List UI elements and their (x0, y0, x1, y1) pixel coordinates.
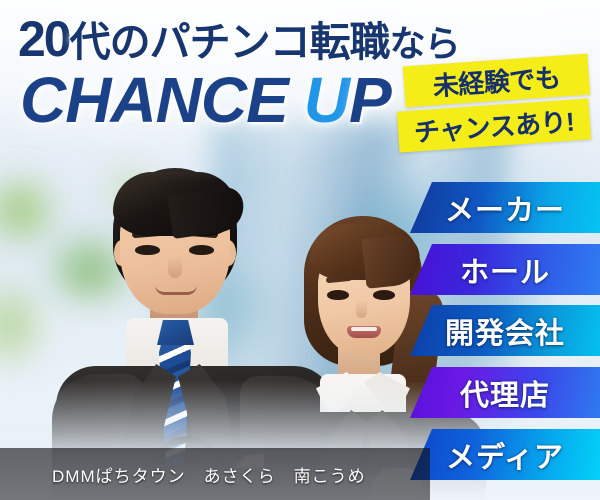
chance-up-logotype: CHANCEUP (20, 68, 391, 132)
woman-nose (356, 300, 367, 318)
category-label: ホール (460, 249, 550, 291)
woman-eye-left (327, 290, 349, 300)
headline-number: 20 (18, 11, 70, 67)
logo-word-chance: CHANCE (20, 64, 288, 136)
promo-banner: 20代のパチンコ転職なら CHANCEUP 未経験でも チャンスあり! メーカー… (0, 0, 600, 500)
logo-letter-u: U (304, 64, 349, 136)
category-button-developer[interactable]: 開発会社 (410, 305, 600, 356)
category-label: メーカー (445, 187, 565, 229)
caption-bar: DMMぱちタウン あさくら 南こうめ (0, 448, 430, 500)
man-necktie-knot (157, 320, 194, 345)
headline: 20代のパチンコ転職なら (18, 14, 418, 64)
category-button-hall[interactable]: ホール (410, 244, 600, 295)
man-mouth (155, 285, 197, 295)
caption-text: DMMぱちタウン あさくら 南こうめ (0, 462, 366, 487)
headline-suffix: なら (390, 23, 460, 64)
category-label: 代理店 (460, 372, 550, 414)
woman-mouth (347, 326, 381, 338)
man-eye-right (189, 245, 214, 255)
man-eye-left (135, 245, 160, 255)
category-button-media[interactable]: メディア (410, 429, 600, 480)
man-nose (168, 256, 182, 278)
category-label: 開発会社 (445, 310, 565, 352)
category-button-agency[interactable]: 代理店 (410, 367, 600, 418)
badge-label: 未経験でも (432, 58, 562, 104)
woman-eye-right (373, 290, 395, 300)
category-button-maker[interactable]: メーカー (410, 182, 600, 233)
headline-main: 代のパチンコ転職 (70, 19, 390, 65)
logo-letter-p: P (349, 64, 391, 136)
category-label: メディア (446, 434, 564, 476)
